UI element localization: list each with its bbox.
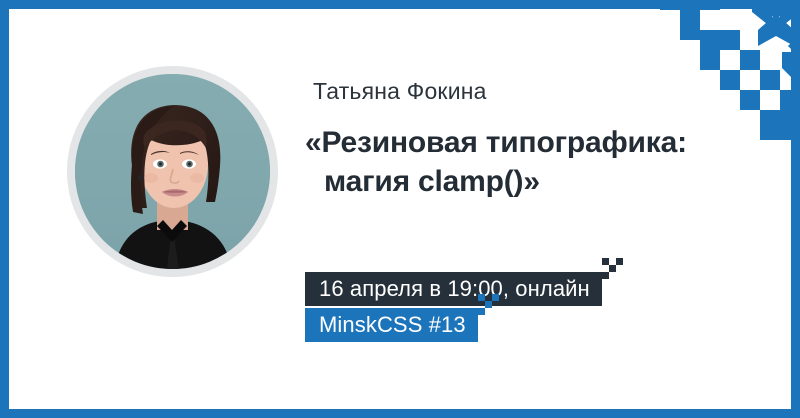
frame-border-left <box>0 0 9 418</box>
talk-title-line-1: «Резиновая типографика: <box>305 126 687 159</box>
speaker-portrait-avatar <box>75 74 270 269</box>
pixel-decoration <box>478 294 485 301</box>
pixel-decoration <box>609 265 616 272</box>
pixel-decoration <box>492 294 499 301</box>
pixel-decoration <box>602 272 609 279</box>
talk-title-line-2: магия clamp()» <box>324 162 775 202</box>
status-badge-event: MinskCSS #13 <box>305 308 478 342</box>
status-badge-datetime: 16 апреля в 19:00, онлайн <box>305 272 602 306</box>
pixel-decoration <box>478 308 485 315</box>
event-announcement-banner: Татьяна Фокина «Резиновая типографика: м… <box>0 0 800 418</box>
pixel-decoration <box>616 258 623 265</box>
badge-group: 16 апреля в 19:00, онлайн MinskCSS #13 <box>305 272 602 342</box>
belarusian-ornament-icon <box>660 0 800 140</box>
frame-border-bottom <box>0 409 800 418</box>
pixel-decoration <box>485 301 492 308</box>
avatar <box>67 66 278 277</box>
pixel-decoration <box>602 258 609 265</box>
avatar-image-clip <box>75 74 270 269</box>
